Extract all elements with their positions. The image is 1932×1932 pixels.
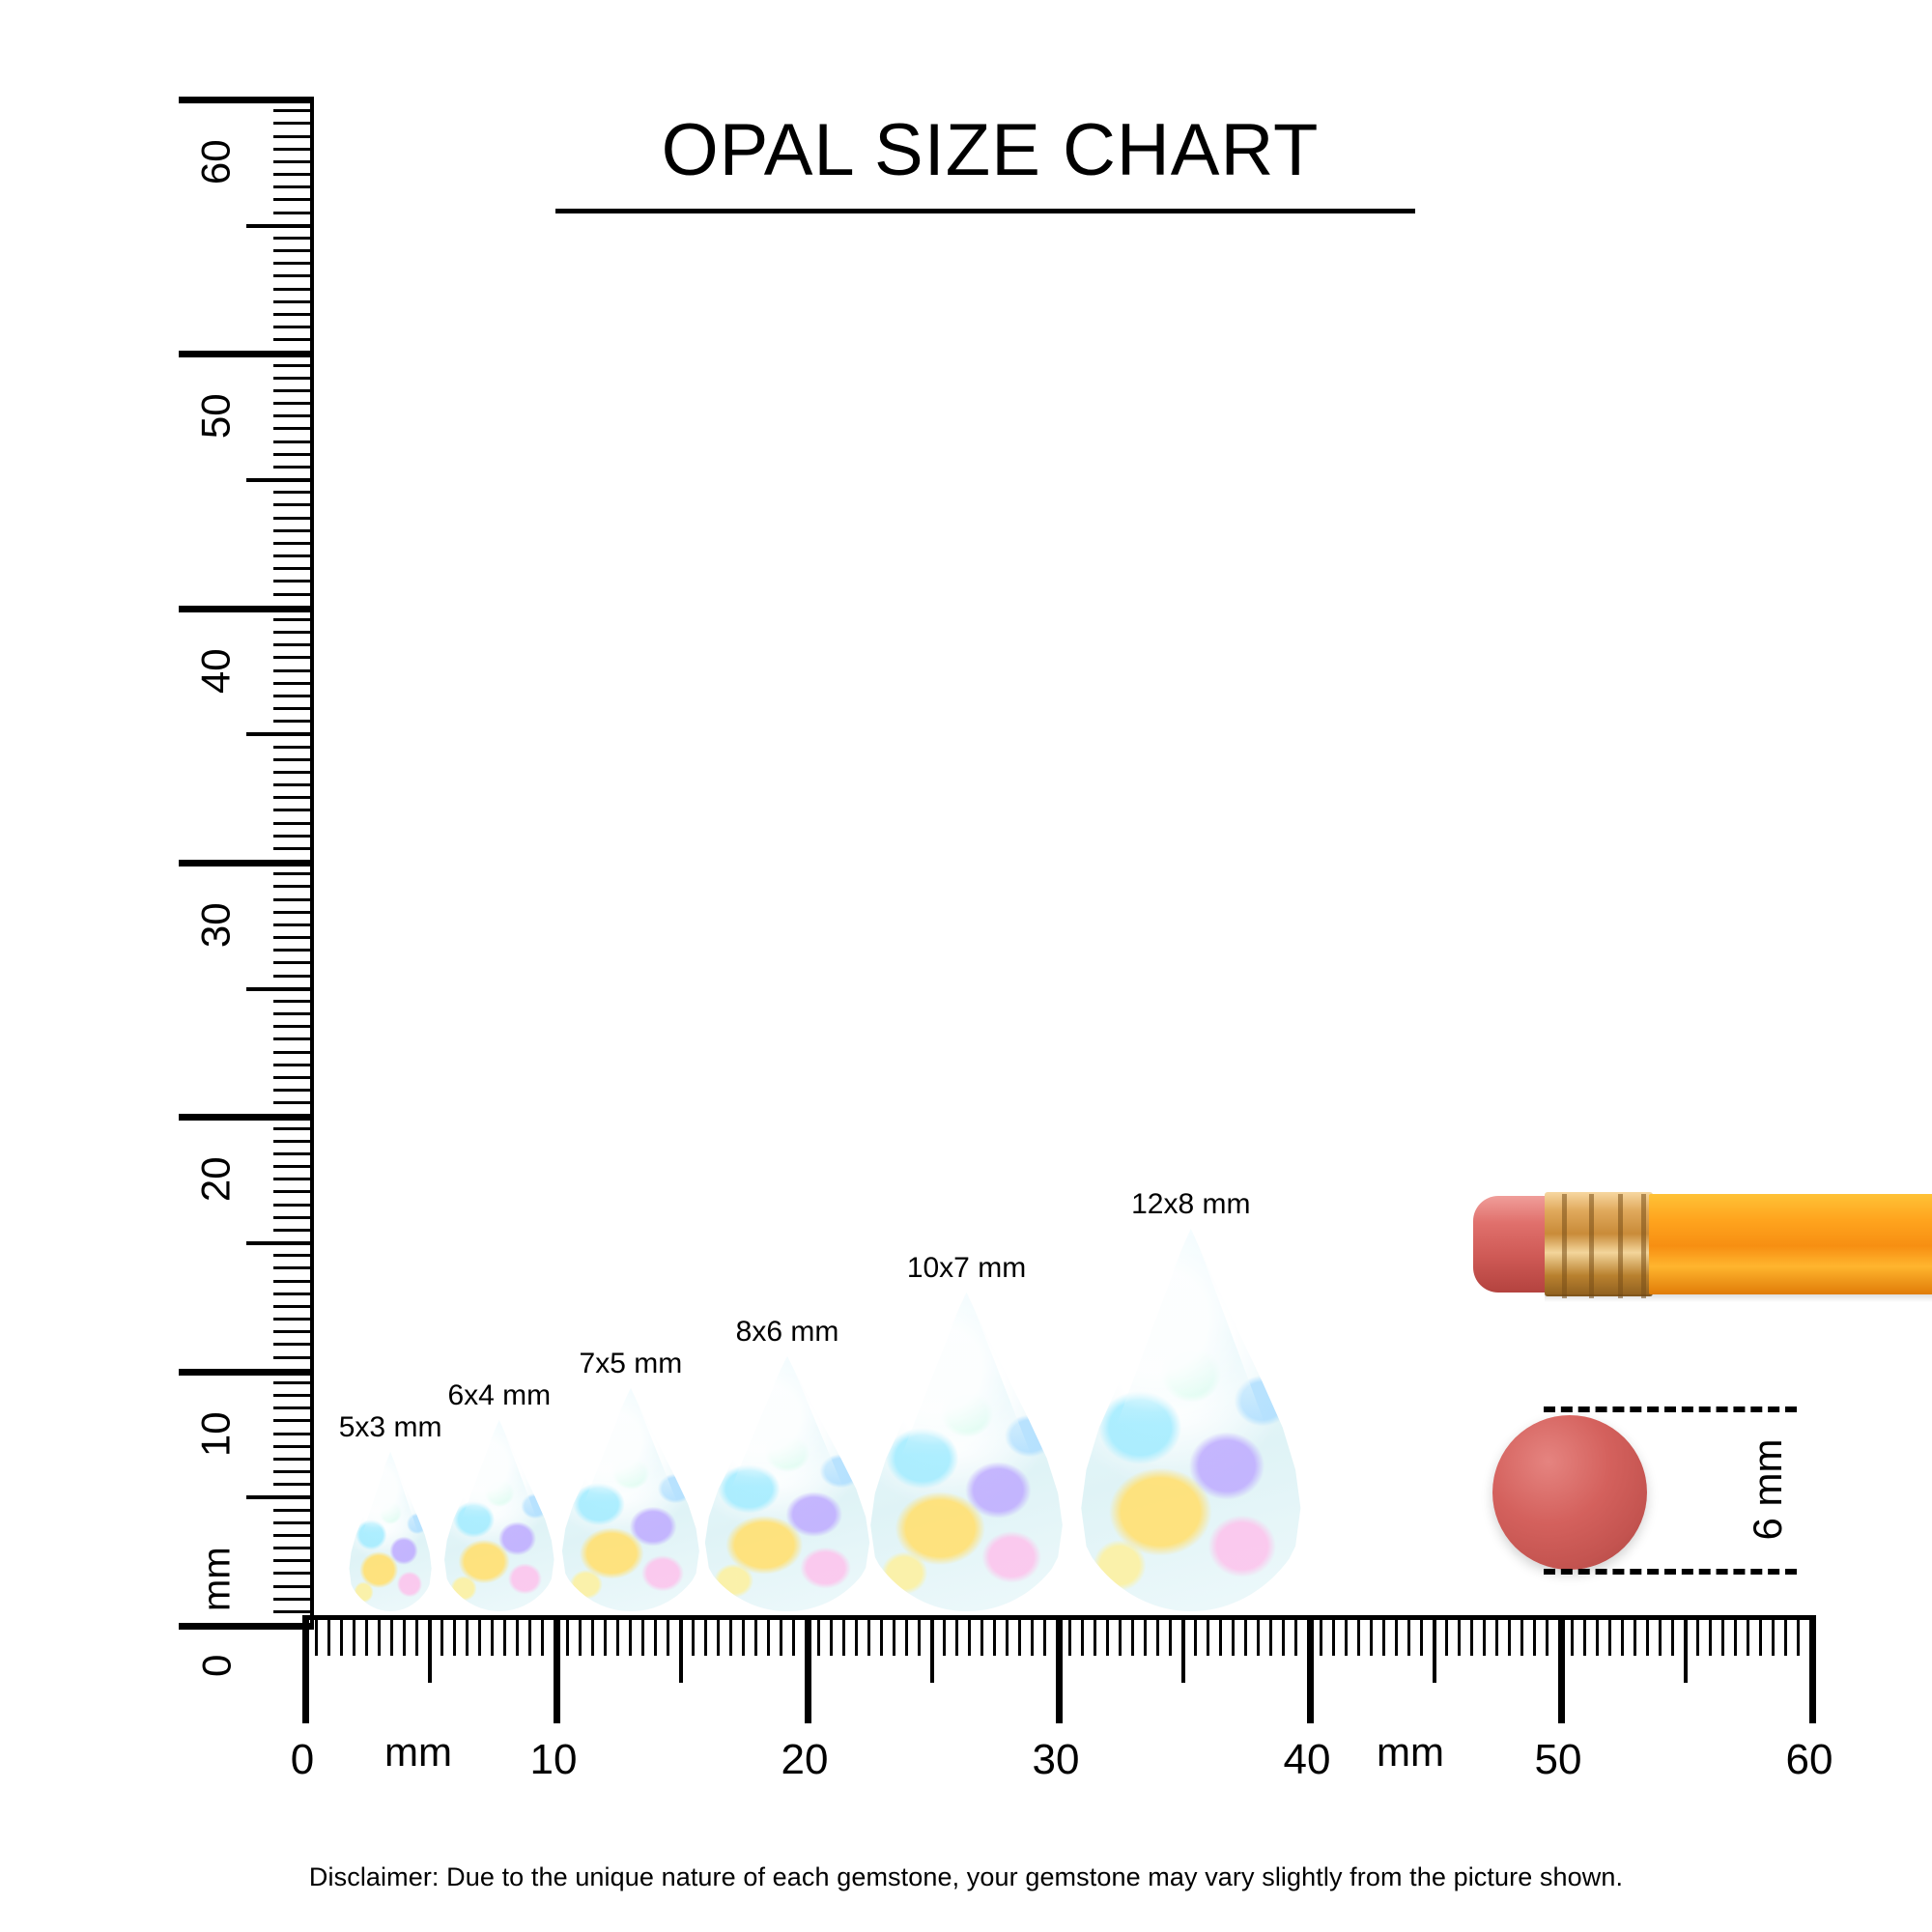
horizontal-ruler-label: 50 xyxy=(1535,1736,1582,1784)
horizontal-tick xyxy=(327,1615,330,1656)
eraser-top-view xyxy=(1492,1415,1647,1570)
ferrule-band xyxy=(1641,1194,1646,1298)
horizontal-tick xyxy=(1232,1615,1235,1656)
horizontal-tick xyxy=(604,1615,607,1656)
horizontal-tick xyxy=(1370,1615,1373,1656)
horizontal-tick xyxy=(616,1615,619,1656)
horizontal-tick xyxy=(1721,1615,1724,1656)
horizontal-tick xyxy=(1571,1615,1574,1656)
horizontal-tick xyxy=(692,1615,695,1656)
ferrule-band xyxy=(1589,1194,1594,1298)
horizontal-tick xyxy=(1194,1615,1197,1656)
horizontal-tick xyxy=(1470,1615,1473,1656)
gemstone-pear-opal xyxy=(855,1293,1078,1611)
horizontal-tick xyxy=(466,1615,469,1656)
horizontal-tick xyxy=(905,1615,908,1656)
horizontal-tick xyxy=(1483,1615,1486,1656)
horizontal-tick xyxy=(1119,1615,1122,1656)
horizontal-tick xyxy=(1747,1615,1749,1656)
horizontal-tick xyxy=(1433,1615,1436,1683)
horizontal-tick xyxy=(1181,1615,1185,1683)
horizontal-tick xyxy=(1784,1615,1787,1656)
horizontal-tick xyxy=(315,1615,318,1656)
horizontal-tick xyxy=(955,1615,958,1656)
disclaimer-text: Disclaimer: Due to the unique nature of … xyxy=(0,1862,1932,1892)
gemstone-size-label: 6x4 mm xyxy=(436,1379,563,1412)
horizontal-tick xyxy=(641,1615,644,1656)
horizontal-tick xyxy=(1621,1615,1624,1656)
horizontal-tick xyxy=(1809,1615,1816,1723)
horizontal-tick xyxy=(993,1615,996,1656)
horizontal-tick xyxy=(667,1615,669,1656)
horizontal-tick xyxy=(654,1615,657,1656)
horizontal-tick xyxy=(1320,1615,1322,1656)
horizontal-tick xyxy=(579,1615,582,1656)
horizontal-tick xyxy=(930,1615,934,1683)
horizontal-tick xyxy=(528,1615,531,1656)
vertical-tick xyxy=(179,1623,314,1630)
horizontal-tick xyxy=(1696,1615,1699,1656)
horizontal-tick xyxy=(1006,1615,1009,1656)
horizontal-tick xyxy=(1797,1615,1800,1656)
horizontal-tick xyxy=(1219,1615,1222,1656)
horizontal-tick xyxy=(1106,1615,1109,1656)
horizontal-tick xyxy=(403,1615,406,1656)
horizontal-tick xyxy=(704,1615,707,1656)
horizontal-tick xyxy=(1646,1615,1649,1656)
callout-measurement-text: 6 mm xyxy=(1745,1439,1791,1541)
horizontal-tick xyxy=(1734,1615,1737,1656)
horizontal-ruler-label: 40 xyxy=(1284,1736,1331,1784)
horizontal-tick xyxy=(1533,1615,1536,1656)
horizontal-tick xyxy=(1357,1615,1360,1656)
horizontal-ruler-label: 0 xyxy=(291,1736,314,1784)
vertical-ruler-label: 0 xyxy=(196,1655,237,1677)
gemstone-pear-opal xyxy=(551,1388,710,1611)
horizontal-tick xyxy=(1382,1615,1385,1656)
horizontal-tick xyxy=(918,1615,921,1656)
gemstone-pear-opal xyxy=(343,1452,439,1611)
horizontal-tick xyxy=(1307,1615,1314,1723)
horizontal-tick xyxy=(1520,1615,1523,1656)
horizontal-tick xyxy=(893,1615,895,1656)
horizontal-tick xyxy=(1156,1615,1159,1656)
horizontal-tick xyxy=(1420,1615,1423,1656)
horizontal-tick xyxy=(717,1615,720,1656)
gemstone-size-label: 12x8 mm xyxy=(1064,1188,1319,1221)
horizontal-tick xyxy=(1018,1615,1021,1656)
horizontal-tick xyxy=(302,1615,309,1723)
horizontal-ruler-label: 30 xyxy=(1033,1736,1080,1784)
horizontal-tick xyxy=(1634,1615,1636,1656)
horizontal-tick xyxy=(365,1615,368,1656)
horizontal-tick xyxy=(867,1615,870,1656)
horizontal-tick xyxy=(754,1615,757,1656)
horizontal-tick xyxy=(1546,1615,1548,1656)
horizontal-tick xyxy=(491,1615,494,1656)
horizontal-tick xyxy=(1684,1615,1688,1683)
horizontal-tick xyxy=(516,1615,519,1656)
horizontal-tick xyxy=(629,1615,632,1656)
horizontal-tick xyxy=(1294,1615,1297,1656)
horizontal-tick xyxy=(968,1615,971,1656)
horizontal-ruler-unit-right: mm xyxy=(1377,1729,1444,1776)
horizontal-tick xyxy=(453,1615,456,1656)
horizontal-tick xyxy=(1495,1615,1498,1656)
horizontal-tick xyxy=(817,1615,820,1656)
horizontal-tick xyxy=(1445,1615,1448,1656)
horizontal-tick xyxy=(1508,1615,1511,1656)
horizontal-tick xyxy=(428,1615,432,1683)
horizontal-tick xyxy=(554,1615,560,1723)
horizontal-tick xyxy=(679,1615,683,1683)
horizontal-tick xyxy=(1269,1615,1272,1656)
horizontal-tick xyxy=(503,1615,506,1656)
horizontal-tick xyxy=(980,1615,983,1656)
horizontal-tick xyxy=(805,1615,811,1723)
horizontal-tick xyxy=(1094,1615,1096,1656)
horizontal-tick xyxy=(478,1615,481,1656)
gemstone-pear-opal xyxy=(1064,1229,1319,1611)
gemstone-size-label: 7x5 mm xyxy=(551,1348,710,1380)
horizontal-tick xyxy=(880,1615,883,1656)
horizontal-tick xyxy=(591,1615,594,1656)
horizontal-tick xyxy=(1659,1615,1662,1656)
horizontal-tick xyxy=(1131,1615,1134,1656)
horizontal-tick xyxy=(353,1615,355,1656)
horizontal-tick xyxy=(1759,1615,1762,1656)
horizontal-tick xyxy=(1395,1615,1398,1656)
horizontal-tick xyxy=(767,1615,770,1656)
horizontal-ruler-label: 20 xyxy=(781,1736,829,1784)
horizontal-tick xyxy=(340,1615,343,1656)
horizontal-ruler-label: 60 xyxy=(1786,1736,1833,1784)
horizontal-tick xyxy=(1169,1615,1172,1656)
horizontal-tick xyxy=(1558,1615,1565,1723)
gemstone-size-label: 5x3 mm xyxy=(339,1411,442,1444)
horizontal-tick xyxy=(1407,1615,1410,1656)
horizontal-ruler-unit-left: mm xyxy=(384,1729,452,1776)
horizontal-tick xyxy=(1282,1615,1285,1656)
gemstone-item: 5x3 mm xyxy=(339,1411,442,1615)
callout-measurement: 6 mm xyxy=(1739,1403,1797,1577)
ferrule-band xyxy=(1562,1194,1567,1298)
pencil-shadow xyxy=(1545,1294,1932,1302)
horizontal-ruler-label: 10 xyxy=(530,1736,578,1784)
horizontal-tick xyxy=(1244,1615,1247,1656)
horizontal-tick xyxy=(1458,1615,1461,1656)
horizontal-tick xyxy=(1081,1615,1084,1656)
horizontal-tick xyxy=(440,1615,443,1656)
horizontal-tick xyxy=(1772,1615,1775,1656)
horizontal-tick xyxy=(541,1615,544,1656)
gemstone-pear-opal xyxy=(436,1420,563,1611)
opal-size-chart-canvas: OPAL SIZE CHART 0102030405060mm 5x3 mm6x… xyxy=(0,0,1932,1932)
horizontal-tick xyxy=(566,1615,569,1656)
horizontal-tick xyxy=(1608,1615,1611,1656)
horizontal-tick xyxy=(1043,1615,1046,1656)
gemstone-item: 12x8 mm xyxy=(1064,1188,1319,1615)
horizontal-tick xyxy=(390,1615,393,1656)
horizontal-tick xyxy=(830,1615,833,1656)
pencil-body xyxy=(1649,1194,1932,1294)
gemstone-item: 10x7 mm xyxy=(855,1252,1078,1615)
horizontal-tick xyxy=(855,1615,858,1656)
horizontal-tick xyxy=(842,1615,845,1656)
horizontal-tick xyxy=(1031,1615,1034,1656)
horizontal-tick xyxy=(378,1615,381,1656)
gemstone-item: 7x5 mm xyxy=(551,1348,710,1615)
gemstone-item: 6x4 mm xyxy=(436,1379,563,1615)
horizontal-tick xyxy=(1332,1615,1335,1656)
horizontal-tick xyxy=(1056,1615,1063,1723)
pencil-ferrule xyxy=(1545,1192,1653,1296)
horizontal-tick xyxy=(943,1615,946,1656)
horizontal-tick xyxy=(742,1615,745,1656)
horizontal-tick xyxy=(1709,1615,1712,1656)
horizontal-tick xyxy=(1671,1615,1674,1656)
horizontal-tick xyxy=(1257,1615,1260,1656)
horizontal-tick xyxy=(780,1615,782,1656)
horizontal-tick xyxy=(1345,1615,1348,1656)
gemstone-row: 5x3 mm6x4 mm7x5 mm8x6 mm10x7 mm12x8 mm xyxy=(0,0,1932,1615)
ferrule-band xyxy=(1618,1194,1623,1298)
horizontal-tick xyxy=(1583,1615,1586,1656)
horizontal-ruler: 0102030405060 mm mm xyxy=(302,1615,1809,1760)
horizontal-tick xyxy=(1068,1615,1071,1656)
horizontal-tick xyxy=(1596,1615,1599,1656)
pencil-illustration xyxy=(1473,1190,1932,1298)
horizontal-tick xyxy=(792,1615,795,1656)
horizontal-tick xyxy=(415,1615,418,1656)
horizontal-tick xyxy=(1207,1615,1209,1656)
horizontal-tick xyxy=(1144,1615,1147,1656)
horizontal-tick xyxy=(729,1615,732,1656)
gemstone-size-label: 10x7 mm xyxy=(855,1252,1078,1285)
pencil-eraser xyxy=(1473,1196,1550,1293)
